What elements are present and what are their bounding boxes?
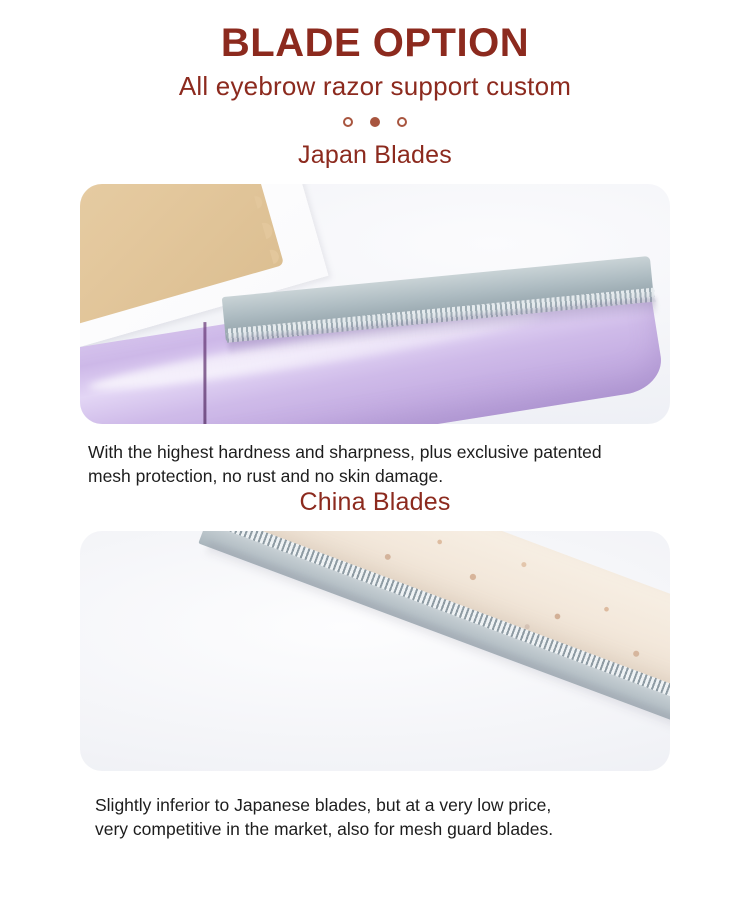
photo-scene-japan (80, 184, 670, 424)
dot-indicator-3[interactable] (397, 117, 407, 127)
page-subtitle: All eyebrow razor support custom (0, 71, 750, 102)
section-heading-japan: Japan Blades (0, 141, 750, 170)
section-china-blades: China Blades Slightly inferior to Japane… (0, 488, 750, 841)
product-photo-japan-blade (80, 184, 670, 424)
product-detail-page: BLADE OPTION All eyebrow razor support c… (0, 0, 750, 901)
page-title: BLADE OPTION (0, 22, 750, 64)
caption-china-blades: Slightly inferior to Japanese blades, bu… (95, 793, 695, 841)
dot-indicator-2-active[interactable] (370, 117, 380, 127)
carousel-dots (0, 115, 750, 129)
razor-seam-line (203, 322, 206, 424)
page-header: BLADE OPTION All eyebrow razor support c… (0, 0, 750, 102)
product-photo-china-blade (80, 531, 670, 771)
section-japan-blades: Japan Blades With the highest hardness a… (0, 141, 750, 488)
photo-scene-china (80, 531, 670, 771)
dot-indicator-1[interactable] (343, 117, 353, 127)
section-heading-china: China Blades (0, 488, 750, 517)
speckled-razor (160, 531, 670, 771)
caption-japan-blades: With the highest hardness and sharpness,… (88, 440, 708, 488)
